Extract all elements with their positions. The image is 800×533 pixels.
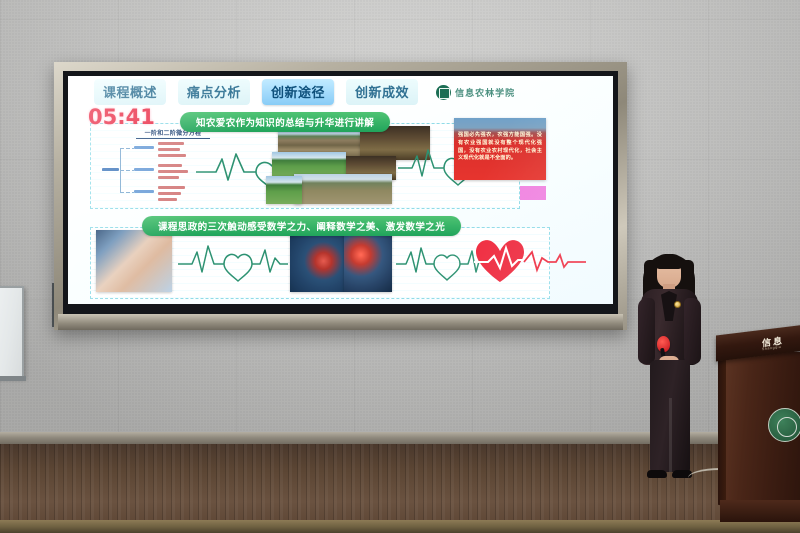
policy-quote-card: 强国必先强农，农强方能国强。没有农业强国就没有整个现代化强国，没有农业农村现代化… <box>454 118 546 180</box>
field-rows-photo <box>266 176 302 204</box>
presenter-figure <box>627 248 712 502</box>
wooden-lectern: 信息 Shangqiu <box>718 330 800 525</box>
institution-brand: 信息农林学院 <box>436 85 515 100</box>
accent-highlight-box <box>520 186 546 200</box>
university-emblem <box>768 408 800 442</box>
whiteboard <box>0 286 24 378</box>
tab-innovation-approach[interactable]: 创新途径 <box>262 79 334 105</box>
policy-quote-text: 强国必先强农，农强方能国强。没有农业强国就没有整个现代化强国，没有农业农村现代化… <box>458 132 542 163</box>
whiteboard-tray <box>0 376 26 381</box>
mindmap-branches <box>98 142 248 202</box>
brain-anatomy-photo <box>290 230 344 292</box>
slide-section-two: 课程思政的三次触动感受数学之力、阐释数学之美、激发数学之光 <box>68 216 613 304</box>
trouser-gap <box>669 398 672 472</box>
red-heart-pulse-icon <box>474 236 586 286</box>
lectern-base <box>720 500 800 522</box>
tractor-harvest-photo <box>294 174 392 204</box>
left-arm <box>638 298 655 364</box>
institution-name: 信息农林学院 <box>455 86 515 99</box>
tab-pain-point-analysis[interactable]: 痛点分析 <box>178 79 250 105</box>
section-two-banner: 课程思政的三次触动感受数学之力、阐释数学之美、激发数学之光 <box>142 216 461 236</box>
handwriting-notes-photo <box>96 230 172 292</box>
left-shoe <box>647 470 667 478</box>
mindmap-diagram: 一阶和二阶微分方程 <box>98 128 248 202</box>
wall-display[interactable]: 课程概述 痛点分析 创新途径 创新成效 信息农林学院 05:41 知农爱农作为知… <box>54 62 627 330</box>
tab-course-overview[interactable]: 课程概述 <box>94 79 166 105</box>
section-one-banner: 知农爱农作为知识的总结与升华进行讲解 <box>180 112 390 132</box>
right-arm <box>684 298 701 364</box>
open-book-brain-photo <box>344 230 392 292</box>
display-bottom-lip <box>58 314 623 330</box>
lecture-room-scene: 课程概述 痛点分析 创新途径 创新成效 信息农林学院 05:41 知农爱农作为知… <box>0 0 800 533</box>
presentation-slide[interactable]: 课程概述 痛点分析 创新途径 创新成效 信息农林学院 05:41 知农爱农作为知… <box>68 76 613 304</box>
gold-lapel-pin <box>674 301 681 308</box>
institution-seal-icon <box>436 85 451 100</box>
countdown-timer: 05:41 <box>88 105 155 129</box>
tab-innovation-results[interactable]: 创新成效 <box>346 79 418 105</box>
floor-front-strip <box>0 520 800 533</box>
hair-front <box>655 254 683 269</box>
slide-tab-bar: 课程概述 痛点分析 创新途径 创新成效 信息农林学院 <box>68 76 613 108</box>
